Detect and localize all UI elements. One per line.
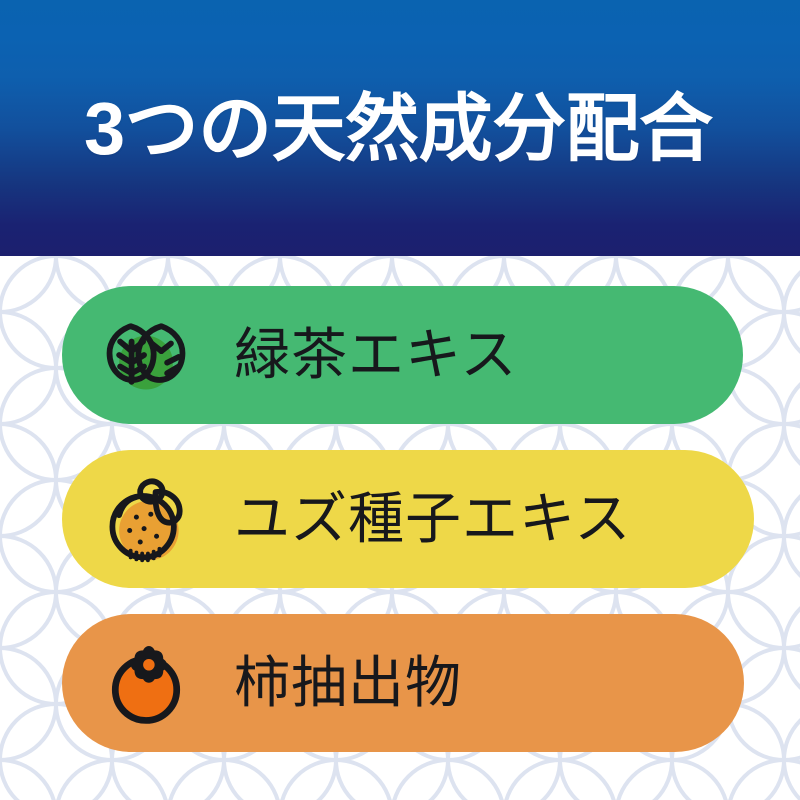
ingredient-pill-yuzu[interactable]: ユズ種子エキス [62, 450, 754, 588]
yuzu-citrus-icon [98, 471, 194, 567]
header-banner: 3つの天然成分配合 [0, 0, 800, 256]
ingredient-label: 緑茶エキス [234, 327, 743, 383]
ingredient-label: ユズ種子エキス [234, 491, 754, 547]
ingredient-list: 緑茶エキス [0, 256, 800, 800]
ingredient-pill-persimmon[interactable]: 柿抽出物 [62, 614, 744, 752]
ingredient-poster: 3つの天然成分配合 [0, 0, 800, 800]
ingredient-pill-green-tea[interactable]: 緑茶エキス [62, 286, 743, 424]
ingredient-label: 柿抽出物 [234, 655, 744, 711]
persimmon-icon [98, 635, 194, 731]
page-title: 3つの天然成分配合 [84, 84, 744, 174]
tea-leaves-icon [98, 307, 194, 403]
